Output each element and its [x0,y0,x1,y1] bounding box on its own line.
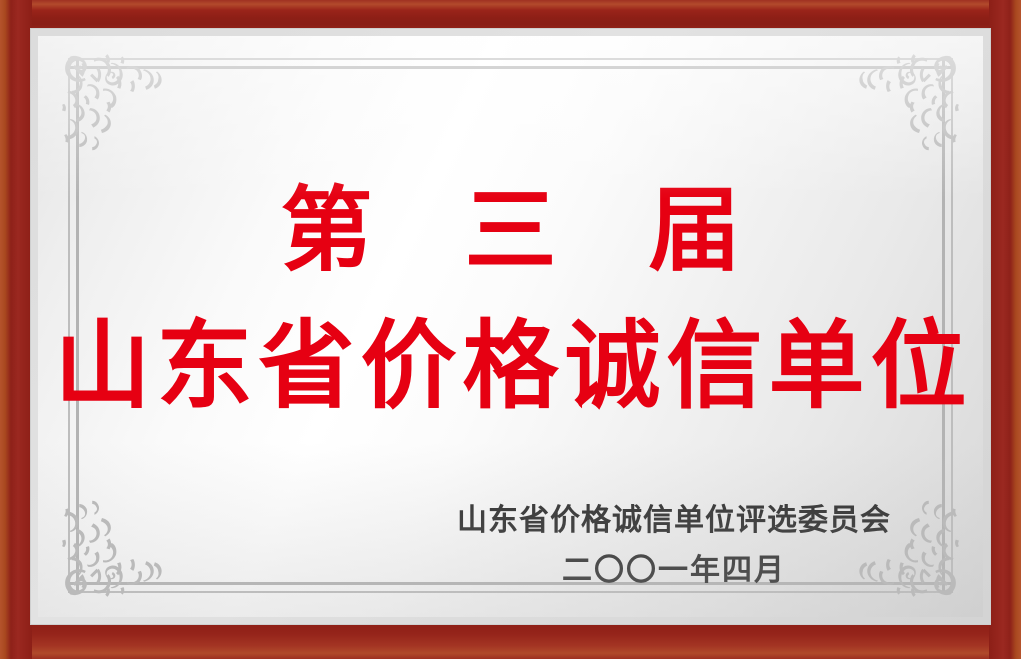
corner-flourish-icon [62,491,170,599]
award-content: 第 三 届 山东省价格诚信单位 山东省价格诚信单位评选委员会 二〇〇一年四月 [38,36,983,617]
corner-flourish-icon [62,52,170,160]
border-rules [68,58,953,593]
award-plaque: 第 三 届 山东省价格诚信单位 山东省价格诚信单位评选委员会 二〇〇一年四月 [0,0,1021,659]
rule-top-thin [68,58,953,60]
rule-bottom-thick [68,582,953,585]
frame-rail-top [0,0,1021,30]
corner-flourish-icon [851,52,959,160]
award-edition-title: 第 三 届 [38,184,983,276]
frame-rail-left [0,0,32,659]
issue-date: 二〇〇一年四月 [457,552,891,590]
issuing-organization: 山东省价格诚信单位评选委员会 [457,502,891,540]
signature-block: 山东省价格诚信单位评选委员会 二〇〇一年四月 [457,502,891,589]
frame-rail-right [989,0,1021,659]
rule-top-thick [68,66,953,69]
rule-bottom-thin [68,591,953,593]
frame-rail-bottom [0,623,1021,659]
award-title: 山东省价格诚信单位 [38,318,983,414]
corner-flourish-icon [851,491,959,599]
certificate-panel: 第 三 届 山东省价格诚信单位 山东省价格诚信单位评选委员会 二〇〇一年四月 [38,36,983,617]
